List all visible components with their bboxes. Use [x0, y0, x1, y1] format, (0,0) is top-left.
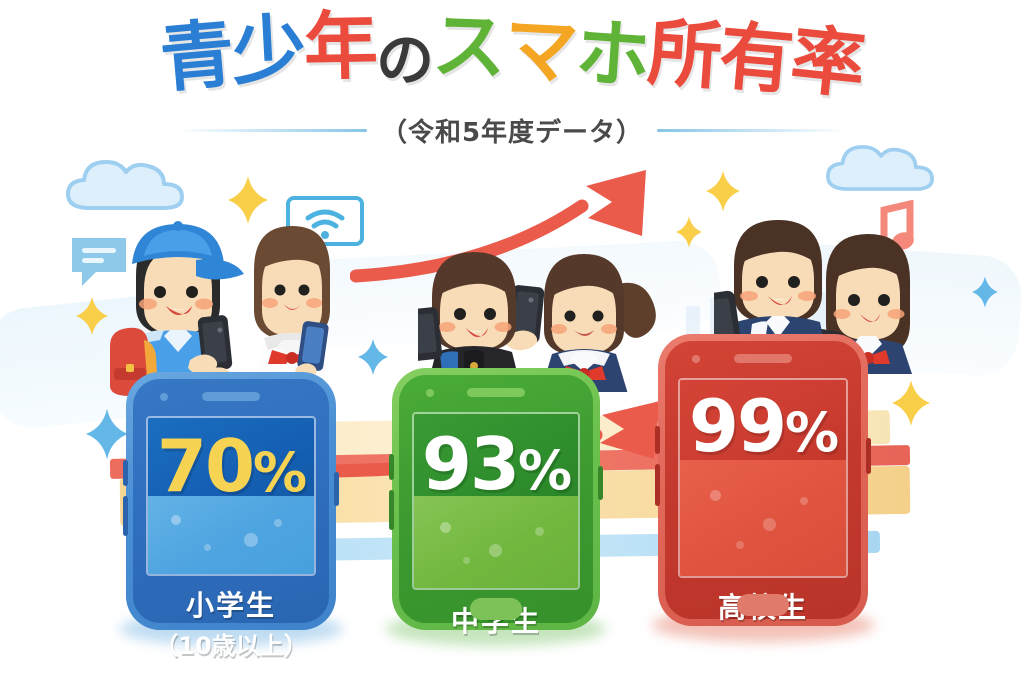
sparkle-icon: [972, 276, 998, 308]
percent-number: 99: [689, 384, 785, 468]
phone-camera-icon: [160, 393, 168, 401]
category-label-elementary: 小学生: [126, 584, 336, 624]
page-title: 青少年のスマホ所有率: [0, 16, 1024, 91]
phone-junior-high[interactable]: 93% 中学生: [392, 368, 600, 630]
phone-speaker: [467, 388, 525, 397]
category-sublabel-elementary: （10歳以上）: [126, 626, 336, 661]
title-block: 青少年のスマホ所有率: [0, 16, 1024, 91]
phone-camera-icon: [426, 389, 434, 397]
phone-screen-high-school: 99%: [678, 378, 848, 578]
phone-screen-junior-high: 93%: [412, 412, 580, 590]
phone-volume-button[interactable]: [123, 496, 128, 536]
title-char-4: の: [376, 31, 433, 90]
sparkle-icon: [892, 380, 930, 426]
subtitle-rule-right: [657, 129, 847, 132]
title-char-6: マ: [502, 12, 578, 90]
screen-lower-panel: [414, 496, 578, 588]
phone-power-button[interactable]: [866, 438, 871, 474]
title-char-3: 年: [303, 9, 376, 84]
boy-with-blue-cap-and-red-backpack: [110, 221, 244, 396]
phone-side-button[interactable]: [123, 460, 128, 486]
phone-speaker: [202, 392, 260, 401]
phone-elementary[interactable]: 70% 小学生 （10歳以上）: [126, 372, 336, 630]
percent-value-high-school: 99%: [680, 390, 846, 462]
group-elementary: [104, 198, 334, 398]
percent-symbol: %: [518, 439, 570, 502]
percent-value-junior-high: 93%: [414, 428, 578, 500]
sparkle-icon: [358, 338, 388, 376]
phone-side-button[interactable]: [655, 426, 660, 454]
title-char-5: ス: [431, 9, 506, 85]
percent-symbol: %: [253, 441, 305, 504]
screen-lower-panel: [680, 460, 846, 576]
phone-power-button[interactable]: [598, 466, 603, 500]
phone-home-button[interactable]: [737, 594, 789, 616]
percent-symbol: %: [785, 401, 837, 464]
phone-camera-icon: [692, 355, 700, 363]
percent-number: 70: [157, 424, 253, 508]
label-block-elementary: 小学生 （10歳以上）: [126, 584, 336, 661]
title-char-1: 青: [157, 17, 235, 97]
sparkle-icon: [86, 408, 128, 460]
subtitle-text: （令和5年度データ）: [381, 112, 643, 149]
phone-home-button[interactable]: [470, 598, 522, 620]
percent-value-elementary: 70%: [148, 430, 314, 502]
phone-volume-button[interactable]: [655, 464, 660, 506]
cloud-icon: [820, 136, 940, 200]
title-char-10: 率: [787, 22, 866, 103]
title-char-9: 有: [716, 19, 794, 99]
phone-speaker: [734, 354, 792, 363]
title-char-2: 少: [230, 12, 306, 90]
phone-high-school[interactable]: 99% 高校生: [658, 334, 868, 626]
girl-with-red-ribbon: [254, 226, 330, 384]
phone-screen-elementary: 70%: [146, 416, 316, 576]
percent-number: 93: [422, 422, 518, 506]
phone-power-button[interactable]: [334, 472, 339, 506]
title-char-8: 所: [645, 16, 722, 95]
phone-side-button[interactable]: [389, 454, 394, 480]
infographic-canvas: 青少年のスマホ所有率 （令和5年度データ）: [0, 0, 1024, 683]
phone-volume-button[interactable]: [389, 490, 394, 530]
subtitle-rule-left: [177, 129, 367, 132]
title-char-7: ホ: [573, 16, 650, 95]
